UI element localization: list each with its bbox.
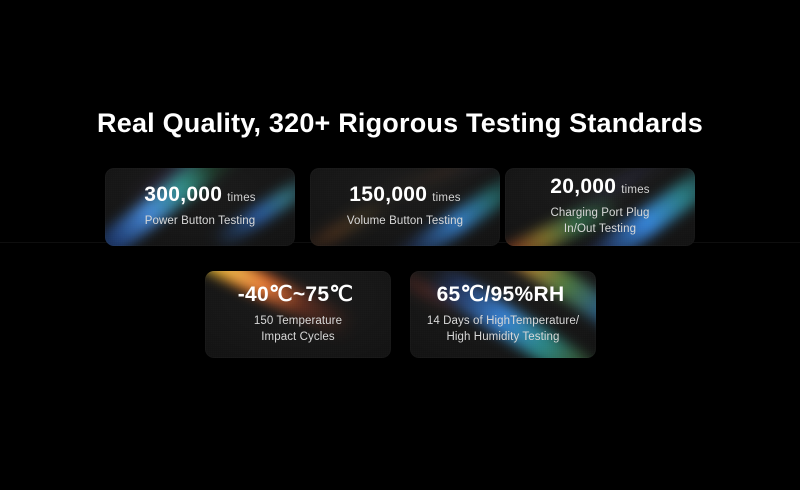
stat-caption: 14 Days of HighTemperature/ High Humidit… (427, 314, 579, 345)
stat-caption: Power Button Testing (145, 214, 255, 230)
stat-unit: times (621, 184, 649, 196)
stat-value: 20,000 (550, 175, 616, 198)
page-title: Real Quality, 320+ Rigorous Testing Stan… (0, 108, 800, 139)
stat-unit: times (227, 192, 255, 204)
stat-value-line: 65℃/95%RH (437, 284, 570, 305)
stat-caption: 150 Temperature Impact Cycles (254, 314, 342, 345)
stat-value-line: 150,000times (349, 184, 461, 205)
stat-caption: Charging Port Plug In/Out Testing (551, 206, 650, 237)
stat-caption: Volume Button Testing (347, 214, 463, 230)
stat-card-humidity: 65℃/95%RH 14 Days of HighTemperature/ Hi… (410, 271, 596, 358)
stat-value: 300,000 (144, 183, 222, 206)
stat-card-power-button: 300,000times Power Button Testing (105, 168, 295, 246)
stat-value-line: 20,000times (550, 176, 650, 197)
stat-card-volume-button: 150,000times Volume Button Testing (310, 168, 500, 246)
stat-value-line: 300,000times (144, 184, 256, 205)
stat-card-temperature-impact: -40℃~75℃ 150 Temperature Impact Cycles (205, 271, 391, 358)
stat-value: 65℃/95%RH (437, 283, 565, 306)
promo-banner: Real Quality, 320+ Rigorous Testing Stan… (0, 0, 800, 490)
stat-card-charging-port: 20,000times Charging Port Plug In/Out Te… (505, 168, 695, 246)
stat-unit: times (432, 192, 460, 204)
stat-value: 150,000 (349, 183, 427, 206)
stat-value-line: -40℃~75℃ (238, 284, 359, 305)
stat-value: -40℃~75℃ (238, 283, 354, 306)
